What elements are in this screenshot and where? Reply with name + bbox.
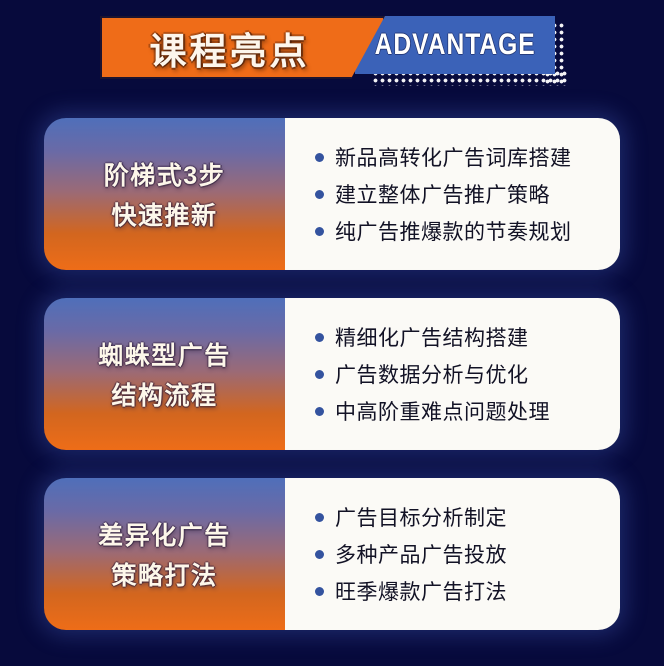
card-bullet-panel: 新品高转化广告词库搭建 建立整体广告推广策略 纯广告推爆款的节奏规划: [285, 118, 620, 270]
bullet-dot-icon: [315, 407, 324, 416]
card-title-panel: 蜘蛛型广告 结构流程: [44, 298, 285, 450]
card-title-line-2: 结构流程: [111, 376, 217, 412]
feature-card[interactable]: 阶梯式3步 快速推新 新品高转化广告词库搭建 建立整体广告推广策略 纯广告推爆款…: [44, 118, 620, 270]
card-title-line-1: 阶梯式3步: [104, 156, 225, 192]
card-title-line-2: 快速推新: [111, 196, 217, 232]
bullet-text: 精细化广告结构搭建: [335, 322, 529, 352]
card-title-panel: 差异化广告 策略打法: [44, 478, 285, 630]
bullet-text: 建立整体广告推广策略: [335, 179, 550, 209]
list-item: 广告目标分析制定: [315, 502, 606, 532]
list-item: 建立整体广告推广策略: [315, 179, 606, 209]
feature-card[interactable]: 差异化广告 策略打法 广告目标分析制定 多种产品广告投放 旺季爆款广告打法: [44, 478, 620, 630]
promotional-poster: ADVANTAGE 课程亮点 阶梯式3步 快速推新 新品高转化广告词库搭建 建立…: [0, 0, 664, 666]
bullet-text: 多种产品广告投放: [335, 539, 507, 569]
bullet-text: 广告数据分析与优化: [335, 359, 529, 389]
card-title-line-2: 策略打法: [111, 556, 217, 592]
bullet-dot-icon: [315, 227, 324, 236]
bullet-text: 中高阶重难点问题处理: [335, 396, 550, 426]
bullet-dot-icon: [315, 550, 324, 559]
bullet-text: 纯广告推爆款的节奏规划: [335, 216, 572, 246]
card-title-line-1: 蜘蛛型广告: [98, 336, 231, 372]
chinese-title-plate: 课程亮点: [100, 16, 385, 79]
card-bullet-panel: 广告目标分析制定 多种产品广告投放 旺季爆款广告打法: [285, 478, 620, 630]
list-item: 新品高转化广告词库搭建: [315, 142, 606, 172]
bullet-dot-icon: [315, 190, 324, 199]
english-title-text: ADVANTAGE: [374, 28, 535, 62]
feature-card[interactable]: 蜘蛛型广告 结构流程 精细化广告结构搭建 广告数据分析与优化 中高阶重难点问题处…: [44, 298, 620, 450]
header-banner: ADVANTAGE 课程亮点: [0, 0, 664, 110]
list-item: 精细化广告结构搭建: [315, 322, 606, 352]
card-title-panel: 阶梯式3步 快速推新: [44, 118, 285, 270]
english-title-plate: ADVANTAGE: [355, 16, 555, 74]
card-bullet-panel: 精细化广告结构搭建 广告数据分析与优化 中高阶重难点问题处理: [285, 298, 620, 450]
list-item: 广告数据分析与优化: [315, 359, 606, 389]
feature-card-list: 阶梯式3步 快速推新 新品高转化广告词库搭建 建立整体广告推广策略 纯广告推爆款…: [0, 118, 664, 658]
chinese-title-text: 课程亮点: [150, 21, 336, 75]
bullet-text: 旺季爆款广告打法: [335, 576, 507, 606]
list-item: 纯广告推爆款的节奏规划: [315, 216, 606, 246]
card-title-line-1: 差异化广告: [98, 516, 231, 552]
bullet-dot-icon: [315, 513, 324, 522]
bullet-dot-icon: [315, 370, 324, 379]
bullet-dot-icon: [315, 153, 324, 162]
list-item: 中高阶重难点问题处理: [315, 396, 606, 426]
bullet-text: 广告目标分析制定: [335, 502, 507, 532]
list-item: 旺季爆款广告打法: [315, 576, 606, 606]
bullet-dot-icon: [315, 587, 324, 596]
list-item: 多种产品广告投放: [315, 539, 606, 569]
bullet-text: 新品高转化广告词库搭建: [335, 142, 572, 172]
bullet-dot-icon: [315, 333, 324, 342]
